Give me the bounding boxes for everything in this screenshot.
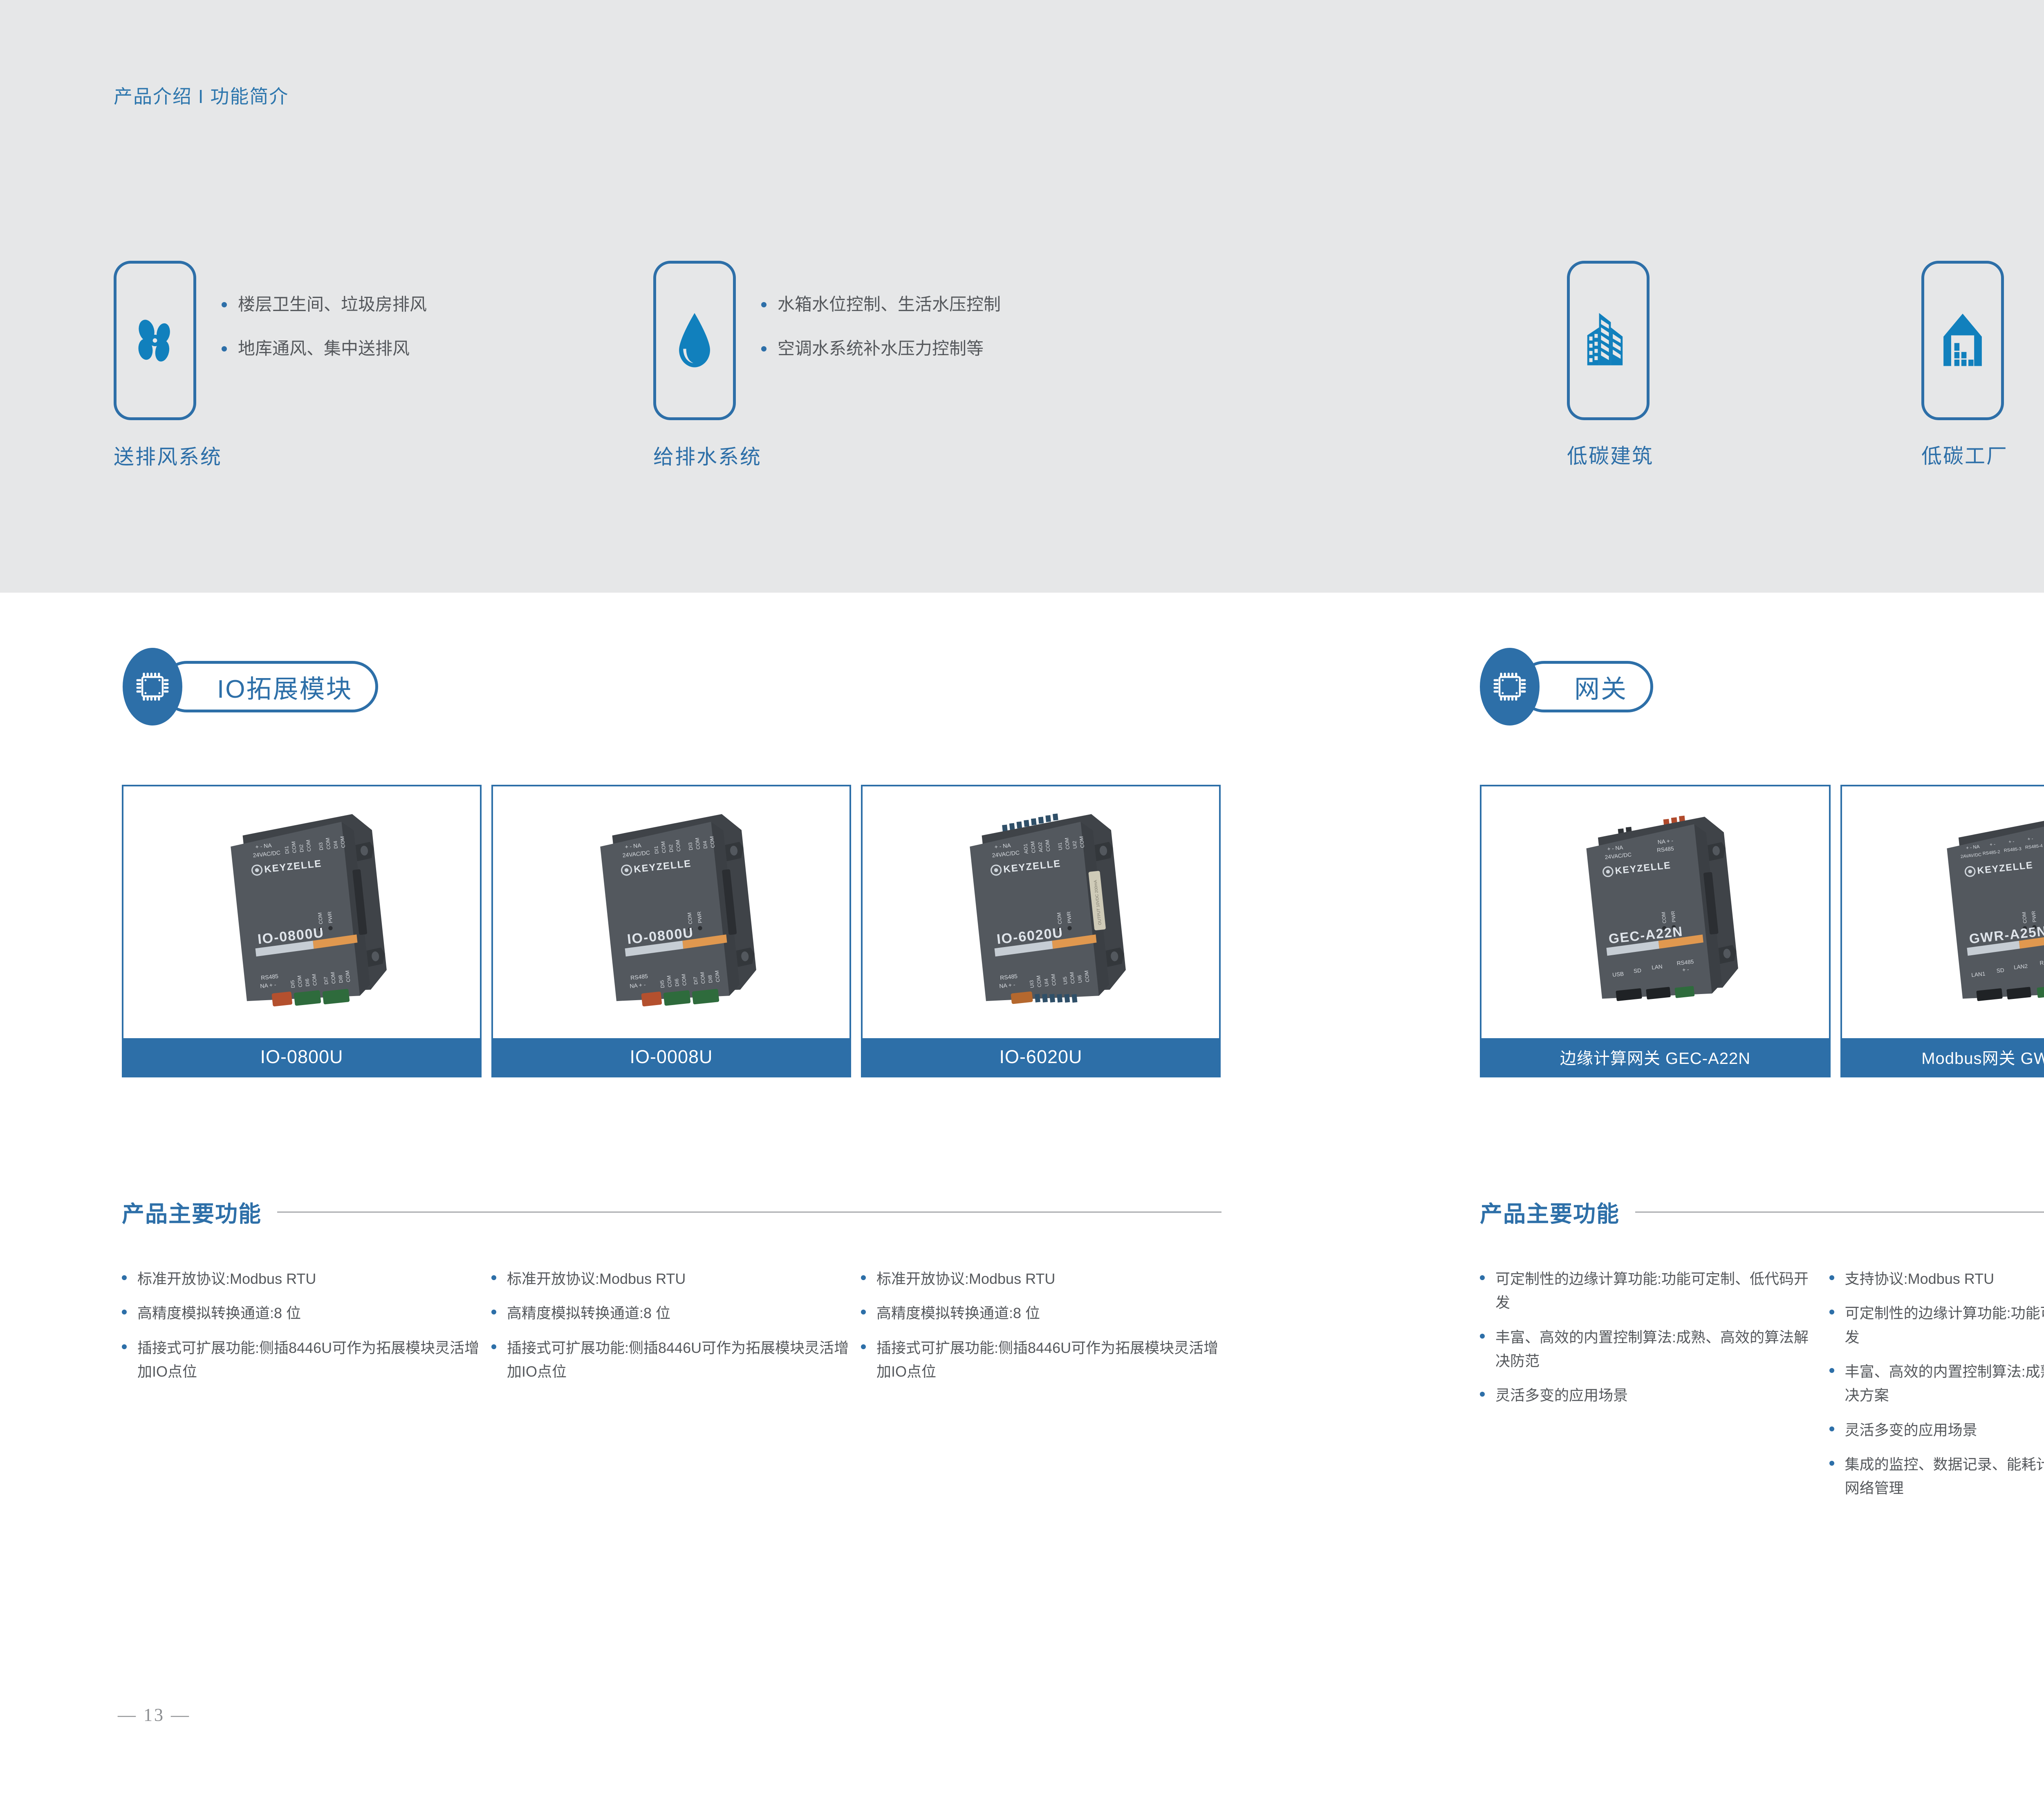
svg-text:DI4: DI4 — [702, 840, 708, 849]
feature-item: 可定制性的边缘计算功能:功能可定制、低代码开发 — [1480, 1267, 1820, 1315]
svg-text:DI8: DI8 — [707, 975, 714, 983]
svg-text:COM: COM — [1050, 974, 1057, 986]
svg-text:DI1: DI1 — [284, 846, 290, 854]
feature-item: 标准开放协议:Modbus RTU — [122, 1267, 482, 1291]
device-gwr-a25n-image: + - NA+ - + -+ -+ - 2AVAV/DCRS485-2 RS48… — [1905, 802, 2044, 1023]
svg-text:COM: COM — [339, 836, 346, 848]
svg-text:DI2: DI2 — [668, 844, 675, 853]
svg-text:COM: COM — [1069, 972, 1076, 984]
svg-text:UI2: UI2 — [1071, 840, 1078, 849]
factory-icon — [1936, 310, 1989, 371]
svg-text:LAN: LAN — [1651, 963, 1663, 971]
fan-icon — [129, 314, 181, 367]
feature-item: 高精度模拟转换通道:8 位 — [861, 1301, 1221, 1325]
feature-item: 灵活多变的应用场景 — [1480, 1384, 1820, 1407]
svg-text:COM: COM — [666, 975, 673, 987]
chip-icon — [1493, 669, 1527, 704]
feature-item: 丰富、高效的内置控制算法:成熟、高效的算法解决防范 — [1480, 1326, 1820, 1373]
svg-text:COM: COM — [1035, 975, 1042, 987]
svg-text:COM: COM — [714, 970, 721, 982]
scenario-bullet: 地库通风、集中送排风 — [222, 339, 427, 358]
svg-text:COM: COM — [699, 972, 706, 984]
product-photo: + - NA 24VAC/DC DI1 COM DI2 COM DI3 COM … — [493, 786, 849, 1038]
svg-text:UI6: UI6 — [1077, 975, 1083, 983]
svg-text:DI1: DI1 — [653, 846, 660, 854]
product-grid-gateway: + - NA 24VAC/DC NA + - RS485 KEYZELLE CO… — [1480, 785, 2044, 1077]
svg-text:SD: SD — [1633, 967, 1642, 974]
svg-text:COM: COM — [686, 912, 693, 925]
feature-item: 集成的监控、数据记录、能耗计量、报警、调度和网络管理 — [1829, 1453, 2044, 1500]
svg-text:PWR: PWR — [327, 911, 334, 923]
product-label: Modbus网关 GWR-A25N — [1842, 1038, 2044, 1076]
features-columns-io: 标准开放协议:Modbus RTU 高精度模拟转换通道:8 位 插接式可扩展功能… — [122, 1267, 1221, 1394]
svg-text:AO2: AO2 — [1037, 842, 1044, 853]
product-card[interactable]: OUTPUT 10VDC 200mA + - NA 24VAC/DC AO1 C… — [861, 785, 1221, 1077]
feature-column: 可定制性的边缘计算功能:功能可定制、低代码开发 丰富、高效的内置控制算法:成熟、… — [1480, 1267, 1820, 1511]
svg-text:PWR: PWR — [1066, 911, 1073, 923]
feature-item: 可定制性的边缘计算功能:功能可定制、低代码开发 — [1829, 1301, 2044, 1349]
scenario-bullet: 水箱水位控制、生活水压控制 — [761, 295, 1001, 314]
section-badge-io-modules: IO拓展模块 — [123, 648, 378, 725]
product-photo: + - NA+ - + -+ -+ - 2AVAV/DCRS485-2 RS48… — [1842, 786, 2044, 1038]
product-photo: + - NA 24VAC/DC NA + - RS485 KEYZELLE CO… — [1481, 786, 1829, 1038]
device-io-0800u-image: + - NA 24VAC/DC DI1 COM DI2 COM DI3 COM … — [187, 802, 416, 1023]
feature-item: 标准开放协议:Modbus RTU — [491, 1267, 851, 1291]
feature-column: 标准开放协议:Modbus RTU 高精度模拟转换通道:8 位 插接式可扩展功能… — [122, 1267, 482, 1394]
product-label: 边缘计算网关 GEC-A22N — [1481, 1038, 1829, 1076]
svg-text:DI7: DI7 — [323, 976, 329, 985]
svg-text:DI4: DI4 — [332, 840, 339, 849]
svg-text:COM: COM — [305, 840, 312, 852]
svg-text:PWR: PWR — [696, 911, 703, 923]
svg-text:+ -: + - — [2008, 839, 2014, 844]
svg-text:DI8: DI8 — [338, 975, 344, 983]
svg-text:DI7: DI7 — [693, 976, 699, 985]
svg-text:COM: COM — [330, 972, 337, 984]
scenario-block-water: 水箱水位控制、生活水压控制 空调水系统补水压力控制等 给排水系统 — [653, 261, 1001, 420]
svg-text:COM: COM — [345, 970, 352, 982]
svg-text:COM: COM — [709, 836, 716, 848]
target-card-low-carbon-building: 低碳建筑 — [1567, 261, 1650, 469]
svg-text:COM: COM — [296, 975, 303, 987]
svg-text:UI5: UI5 — [1062, 976, 1069, 985]
device-io-6020u-image: OUTPUT 10VDC 200mA + - NA 24VAC/DC AO1 C… — [926, 802, 1155, 1023]
svg-text:+ -: + - — [2027, 836, 2033, 842]
svg-text:COM: COM — [1660, 911, 1667, 923]
svg-text:DI6: DI6 — [304, 978, 311, 987]
svg-text:COM: COM — [325, 837, 332, 850]
svg-text:COM: COM — [317, 912, 324, 925]
features-header-io: 产品主要功能 — [122, 1196, 1221, 1228]
product-card[interactable]: + - NA 24VAC/DC DI1 COM DI2 COM DI3 COM … — [491, 785, 851, 1077]
svg-text:PWR: PWR — [1670, 911, 1677, 923]
scenario-bullet: 楼层卫生间、垃圾房排风 — [222, 295, 427, 314]
svg-text:USB: USB — [1612, 971, 1624, 978]
features-columns-gateway: 可定制性的边缘计算功能:功能可定制、低代码开发 丰富、高效的内置控制算法:成熟、… — [1480, 1267, 2044, 1511]
svg-text:COM: COM — [1078, 836, 1085, 848]
product-photo: OUTPUT 10VDC 200mA + - NA 24VAC/DC AO1 C… — [863, 786, 1219, 1038]
device-io-0008u-image: + - NA 24VAC/DC DI1 COM DI2 COM DI3 COM … — [557, 802, 786, 1023]
page-number-left: — 13 — — [118, 1704, 191, 1725]
feature-item: 插接式可扩展功能:侧插8446U可作为拓展模块灵活增加IO点位 — [861, 1336, 1221, 1384]
factory-icon-frame — [1921, 261, 2004, 420]
svg-text:COM: COM — [694, 837, 701, 850]
svg-text:DI6: DI6 — [674, 978, 680, 987]
chip-icon-circle — [1480, 648, 1540, 725]
svg-text:DI5: DI5 — [289, 980, 296, 988]
svg-text:COM: COM — [291, 841, 298, 853]
product-grid-io: + - NA 24VAC/DC DI1 COM DI2 COM DI3 COM … — [122, 785, 1221, 1077]
section-badge-title: 网关 — [1574, 668, 1627, 705]
target-caption: 低碳建筑 — [1567, 440, 1650, 469]
svg-text:UI4: UI4 — [1043, 978, 1050, 987]
feature-column: 支持协议:Modbus RTU 可定制性的边缘计算功能:功能可定制、低代码开发 … — [1829, 1267, 2044, 1511]
feature-item: 标准开放协议:Modbus RTU — [861, 1267, 1221, 1291]
scenario-bullet-list: 楼层卫生间、垃圾房排风 地库通风、集中送排风 — [222, 261, 427, 383]
section-badge-gateway: 网关 — [1480, 648, 1653, 725]
feature-column: 标准开放协议:Modbus RTU 高精度模拟转换通道:8 位 插接式可扩展功能… — [861, 1267, 1221, 1394]
features-title: 产品主要功能 — [122, 1196, 262, 1228]
svg-text:DI5: DI5 — [659, 980, 666, 988]
svg-text:+ -: + - — [1682, 966, 1689, 973]
feature-item: 支持协议:Modbus RTU — [1829, 1267, 2044, 1291]
product-card[interactable]: + - NA 24VAC/DC DI1 COM DI2 COM DI3 COM … — [122, 785, 482, 1077]
water-drop-icon — [670, 312, 719, 369]
scenario-caption: 给排水系统 — [653, 441, 762, 470]
feature-column: 标准开放协议:Modbus RTU 高精度模拟转换通道:8 位 插接式可扩展功能… — [491, 1267, 851, 1394]
feature-item: 丰富、高效的内置控制算法:成熟、高效的算法解决方案 — [1829, 1360, 2044, 1408]
section-badge-pill: IO拓展模块 — [161, 661, 378, 712]
water-drop-icon-frame — [653, 261, 736, 420]
scenario-bullet-list: 水箱水位控制、生活水压控制 空调水系统补水压力控制等 — [761, 261, 1001, 383]
product-card[interactable]: + - NA+ - + -+ -+ - 2AVAV/DCRS485-2 RS48… — [1840, 785, 2044, 1077]
office-buildings-icon-frame — [1567, 261, 1650, 420]
scenario-caption: 送排风系统 — [114, 441, 222, 470]
target-card-low-carbon-factory: 低碳工厂 — [1921, 261, 2004, 469]
svg-text:DI2: DI2 — [298, 844, 305, 853]
chip-icon-circle — [123, 648, 182, 725]
scenario-block-ventilation: 楼层卫生间、垃圾房排风 地库通风、集中送排风 送排风系统 — [114, 261, 427, 420]
svg-text:+ -: + - — [1989, 842, 1995, 847]
chip-icon — [135, 669, 170, 704]
features-rule — [277, 1211, 1221, 1213]
section-badge-title: IO拓展模块 — [217, 668, 352, 705]
product-label: IO-0800U — [123, 1038, 480, 1076]
feature-item: 高精度模拟转换通道:8 位 — [122, 1301, 482, 1325]
svg-text:COM: COM — [681, 974, 688, 986]
feature-item: 高精度模拟转换通道:8 位 — [491, 1301, 851, 1325]
svg-text:SD: SD — [1996, 967, 2005, 974]
svg-text:COM: COM — [1064, 837, 1071, 850]
feature-item: 灵活多变的应用场景 — [1829, 1418, 2044, 1442]
feature-item: 插接式可扩展功能:侧插8446U可作为拓展模块灵活增加IO点位 — [122, 1336, 482, 1384]
svg-text:COM: COM — [2021, 911, 2028, 923]
office-buildings-icon — [1582, 308, 1634, 373]
svg-text:DI3: DI3 — [318, 842, 324, 851]
scenario-bullet: 空调水系统补水压力控制等 — [761, 339, 1001, 358]
features-header-gateway: 产品主要功能 — [1480, 1196, 2044, 1228]
running-header-left: 产品介绍 I 功能简介 — [114, 82, 289, 109]
product-card[interactable]: + - NA 24VAC/DC NA + - RS485 KEYZELLE CO… — [1480, 785, 1831, 1077]
svg-text:COM: COM — [1030, 841, 1037, 853]
svg-text:PWR: PWR — [2031, 911, 2037, 923]
svg-text:COM: COM — [1084, 970, 1091, 982]
feature-item: 插接式可扩展功能:侧插8446U可作为拓展模块灵活增加IO点位 — [491, 1336, 851, 1384]
features-title: 产品主要功能 — [1480, 1196, 1620, 1228]
svg-text:COM: COM — [1056, 912, 1063, 925]
target-caption: 低碳工厂 — [1921, 440, 2004, 469]
fan-icon-frame — [114, 261, 196, 420]
svg-text:COM: COM — [675, 840, 682, 852]
svg-text:COM: COM — [311, 974, 318, 986]
features-rule — [1635, 1211, 2044, 1213]
product-photo: + - NA 24VAC/DC DI1 COM DI2 COM DI3 COM … — [123, 786, 480, 1038]
product-label: IO-6020U — [863, 1038, 1219, 1076]
svg-text:COM: COM — [660, 841, 667, 853]
svg-text:UI3: UI3 — [1029, 980, 1035, 988]
svg-text:UI1: UI1 — [1057, 842, 1063, 851]
product-label: IO-0008U — [493, 1038, 849, 1076]
svg-text:AO1: AO1 — [1022, 843, 1029, 854]
svg-text:DI3: DI3 — [687, 842, 694, 851]
svg-text:COM: COM — [1044, 840, 1051, 852]
device-gec-a22n-image: + - NA 24VAC/DC NA + - RS485 KEYZELLE CO… — [1544, 802, 1767, 1023]
